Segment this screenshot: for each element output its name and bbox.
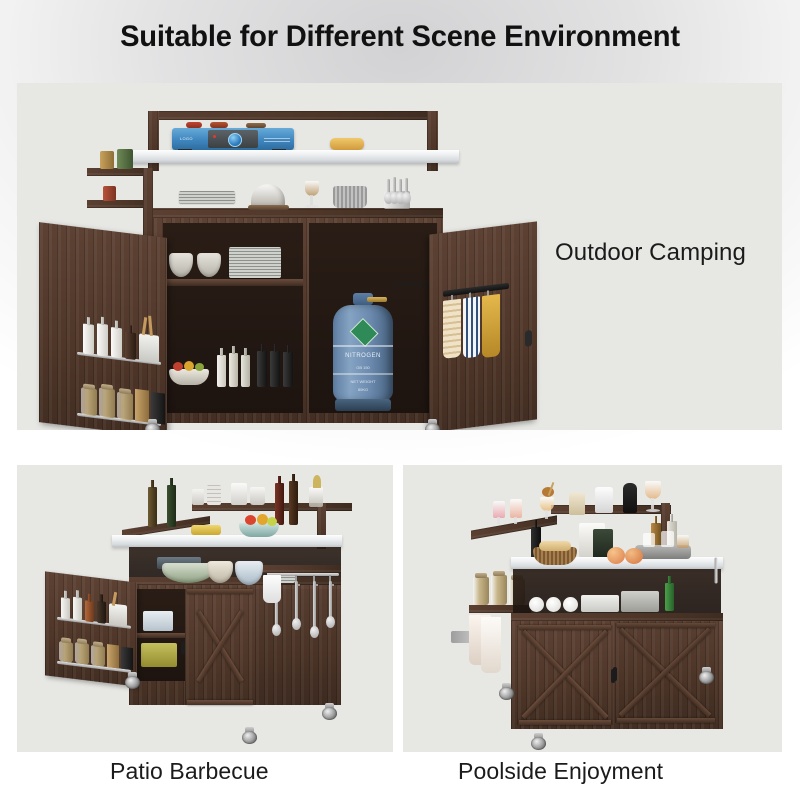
gas-tank: NITROGEN GB 150 NET WEIGHT 80KG — [333, 301, 393, 413]
caption-poolside-enjoyment: Poolside Enjoyment — [458, 758, 663, 785]
sauce-bottle-3 — [283, 352, 293, 387]
fruit-apple — [173, 362, 183, 371]
cocktail-glass-2 — [510, 499, 522, 525]
oil-bottle-1 — [217, 355, 226, 387]
ribbed-bowl — [333, 186, 367, 208]
canister-2 — [207, 485, 221, 505]
caster-pool-2 — [531, 733, 546, 750]
gas-tank-valve[interactable] — [367, 297, 387, 302]
paper-box — [231, 483, 247, 505]
utensil-crock-patio — [109, 603, 127, 626]
oil-bottle-2 — [229, 353, 238, 387]
canned-good-3 — [103, 186, 116, 201]
utensil-rail-support — [263, 565, 341, 573]
hanging-spatula — [313, 581, 316, 631]
flower-vase — [309, 487, 323, 507]
plate-stack-upper — [179, 191, 235, 203]
peach-1 — [607, 547, 625, 564]
mug-1 — [250, 487, 265, 505]
paper-bag — [135, 389, 149, 423]
gas-tank-sub-label: GB 150 — [333, 365, 393, 370]
spice-bottle-p2 — [73, 597, 82, 621]
fruit-lemon-patio — [267, 517, 277, 526]
hanging-towel-1 — [443, 299, 461, 359]
display-shelf — [153, 208, 443, 218]
towel-roll-1 — [529, 597, 544, 612]
storage-jar-2 — [99, 388, 115, 419]
snack-canister — [569, 493, 585, 515]
cabinet-right-door-open[interactable] — [429, 221, 537, 430]
griddle-power-indicator — [213, 135, 216, 138]
bread-rolls — [539, 541, 571, 551]
cabinet-left-door-open[interactable] — [39, 222, 167, 430]
hand-towel-2 — [481, 617, 501, 673]
green-bottle — [665, 583, 674, 611]
scene-panel-poolside-enjoyment — [403, 465, 782, 752]
barn-door-left-pool[interactable] — [517, 625, 613, 725]
tumbler-3 — [677, 535, 689, 548]
dinner-plate-stack — [229, 247, 281, 278]
tumbler-2 — [661, 531, 674, 547]
page-title: Suitable for Different Scene Environment — [12, 20, 788, 54]
utensil-holder — [384, 179, 410, 209]
cabinet-left-door-patio[interactable] — [45, 571, 137, 686]
pepper-mill — [623, 483, 637, 513]
caster-front-right — [425, 419, 440, 430]
bread-tray — [330, 138, 364, 150]
caster-patio-2 — [242, 727, 257, 744]
hanging-ladle — [329, 581, 332, 621]
peach-2 — [625, 548, 643, 564]
griddle-spec-text — [264, 136, 290, 142]
spice-bottle-p4 — [97, 601, 106, 624]
hutch-top-rail — [148, 111, 438, 120]
interior-shelf-patio — [137, 633, 185, 638]
scene-panel-outdoor-camping: LOGO — [17, 83, 782, 430]
snack-jar-1 — [473, 577, 489, 605]
caster-pool-1 — [499, 683, 514, 700]
door-handle-patio[interactable] — [181, 641, 185, 655]
storage-jar-p3 — [91, 645, 105, 667]
spice-bottle-2 — [97, 323, 108, 356]
drawer-box — [621, 591, 659, 612]
wine-bottle-1 — [148, 487, 157, 527]
caster-front-left — [145, 419, 160, 430]
storage-jar-p2 — [75, 642, 89, 665]
oil-bottle-3 — [241, 355, 250, 387]
door-handle-right[interactable] — [525, 330, 532, 347]
canister-1 — [192, 489, 204, 505]
hanging-spoon-2 — [295, 581, 298, 623]
griddle-knob[interactable] — [228, 133, 242, 147]
caption-patio-barbecue: Patio Barbecue — [110, 758, 269, 785]
wine-glass — [304, 181, 320, 209]
caption-outdoor-camping: Outdoor Camping — [555, 239, 746, 267]
cocktail-glass-1 — [493, 501, 505, 525]
spice-bottle-3 — [111, 327, 122, 358]
gas-tank-label: NITROGEN — [333, 353, 393, 359]
cabinet-left-shelf — [163, 279, 303, 286]
counter-top — [127, 150, 459, 163]
storage-jar-1 — [81, 387, 97, 416]
sauce-bottle-2 — [270, 351, 280, 387]
caster-pool-3 — [699, 667, 714, 684]
stored-boxes — [143, 611, 173, 631]
towel-roll-3 — [563, 597, 578, 612]
storage-jar-3 — [117, 392, 133, 421]
scene-panel-patio-barbecue — [17, 465, 393, 752]
door-handle-pool-right[interactable] — [613, 667, 617, 681]
griddle-food-3 — [246, 123, 266, 128]
dried-flowers — [313, 475, 321, 488]
caster-patio-3 — [322, 703, 337, 720]
hanging-towel-patio — [263, 575, 281, 603]
utensil-crock — [139, 333, 159, 362]
spice-bottle-1 — [83, 324, 94, 355]
gas-tank-base — [335, 399, 391, 411]
product-scene-infographic: Suitable for Different Scene Environment… — [0, 0, 800, 800]
caster-patio-1 — [125, 672, 140, 689]
canned-good-1 — [100, 151, 114, 169]
griddle-food-2 — [210, 122, 228, 128]
paper-towel-roll — [595, 487, 613, 513]
griddle-logo-label: LOGO — [180, 136, 193, 141]
fruit-apple-patio — [245, 515, 256, 525]
canned-good-2 — [117, 149, 133, 169]
fruit-orange — [184, 361, 194, 371]
gas-tank-weight-label: NET WEIGHT — [333, 379, 393, 384]
wine-bottle-2 — [167, 485, 176, 527]
open-shelf-patio — [129, 577, 341, 585]
hanging-towel-2 — [463, 296, 480, 358]
paper-bag-patio — [107, 644, 119, 668]
coffee-bag-patio — [121, 647, 133, 670]
fruit-bowl — [169, 369, 209, 385]
hanging-towel-3 — [482, 294, 500, 358]
storage-bin — [141, 643, 177, 667]
sauce-bottle-1 — [257, 351, 267, 387]
side-rail-pool — [715, 558, 718, 584]
towel-roll-2 — [546, 597, 561, 612]
gas-tank-weight-value: 80KG — [333, 387, 393, 392]
snack-jar-2 — [491, 575, 507, 605]
spice-bottle-4 — [125, 332, 136, 360]
tumbler-1 — [643, 533, 655, 547]
electric-griddle: LOGO — [172, 128, 294, 150]
griddle-food-1 — [186, 122, 202, 128]
cloche-board — [248, 205, 289, 210]
storage-tote — [581, 595, 619, 612]
spice-bottle-p1 — [61, 597, 70, 619]
fruit-pear — [195, 363, 204, 371]
wine-glass-pool — [645, 481, 661, 513]
barn-door-patio[interactable] — [185, 589, 255, 705]
banana-plate — [191, 525, 221, 535]
spice-bottle-p3 — [85, 600, 94, 622]
cocktail-glass-3 — [540, 491, 554, 523]
storage-jar-p1 — [59, 641, 73, 663]
gas-tank-hazard-label — [350, 318, 379, 347]
counter-top-patio — [112, 535, 342, 547]
lower-shelf-pool — [511, 613, 723, 621]
liquor-bottle-2 — [289, 481, 298, 525]
